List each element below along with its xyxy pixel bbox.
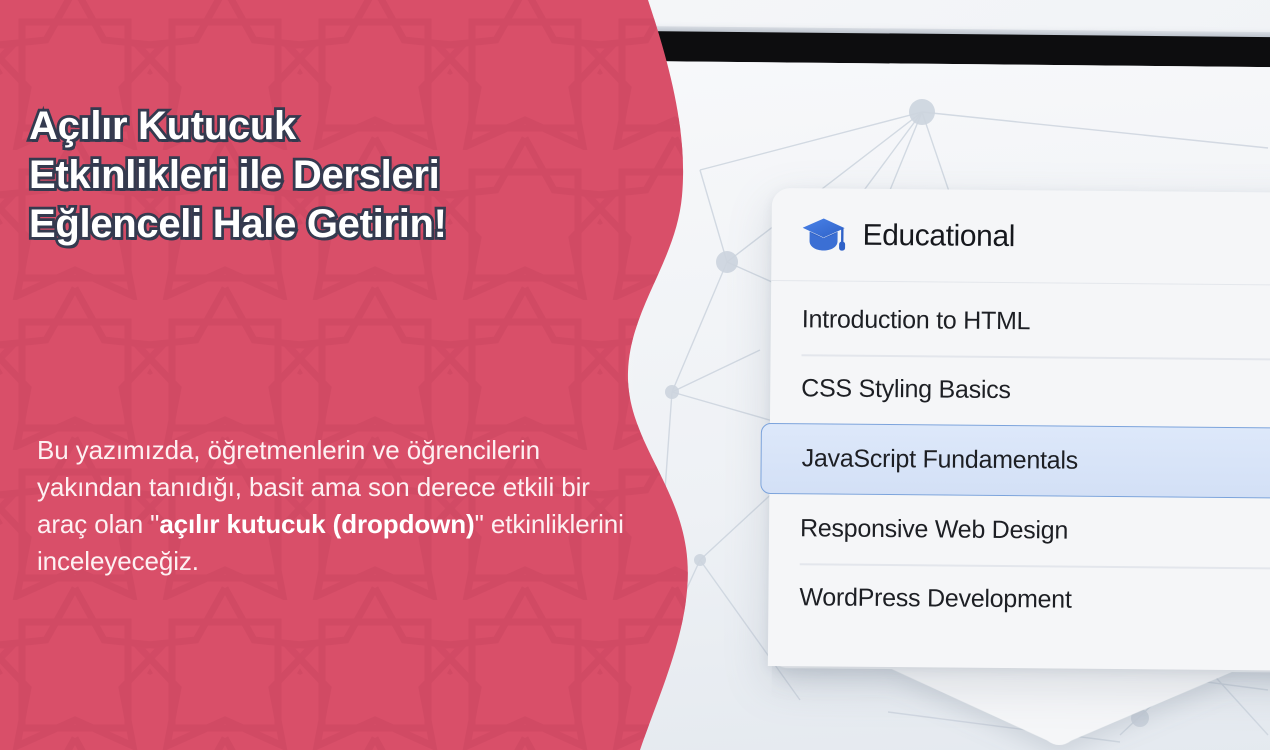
dropdown-option-list[interactable]: Introduction to HTML CSS Styling Basics … xyxy=(768,281,1270,671)
dropdown-option-item[interactable]: CSS Styling Basics xyxy=(770,354,1270,428)
dropdown-option-item-selected[interactable]: JavaScript Fundamentals xyxy=(760,423,1270,499)
headline-line: Etkinlikleri ile Dersleri xyxy=(29,151,629,200)
dropdown-option-item[interactable]: Responsive Web Design xyxy=(769,494,1270,568)
graduation-cap-icon xyxy=(802,216,846,254)
poster-canvas: Educational Introduction to HTML CSS Sty… xyxy=(0,0,1270,750)
dropdown-option-item[interactable]: WordPress Development xyxy=(768,563,1270,637)
educational-dropdown-card[interactable]: Educational Introduction to HTML CSS Sty… xyxy=(768,188,1270,671)
page-title: Açılır Kutucuk Etkinlikleri ile Dersleri… xyxy=(29,102,629,250)
body-text-emphasis: açılır kutucuk (dropdown) xyxy=(159,509,474,539)
dropdown-card-header: Educational xyxy=(771,188,1270,286)
body-paragraph: Bu yazımızda, öğretmenlerin ve öğrencile… xyxy=(37,432,637,580)
headline-line: Eğlenceli Hale Getirin! xyxy=(29,200,629,249)
headline-line: Açılır Kutucuk xyxy=(29,102,629,151)
dropdown-option-item[interactable]: Introduction to HTML xyxy=(771,285,1270,359)
dropdown-card-title: Educational xyxy=(862,219,1015,254)
